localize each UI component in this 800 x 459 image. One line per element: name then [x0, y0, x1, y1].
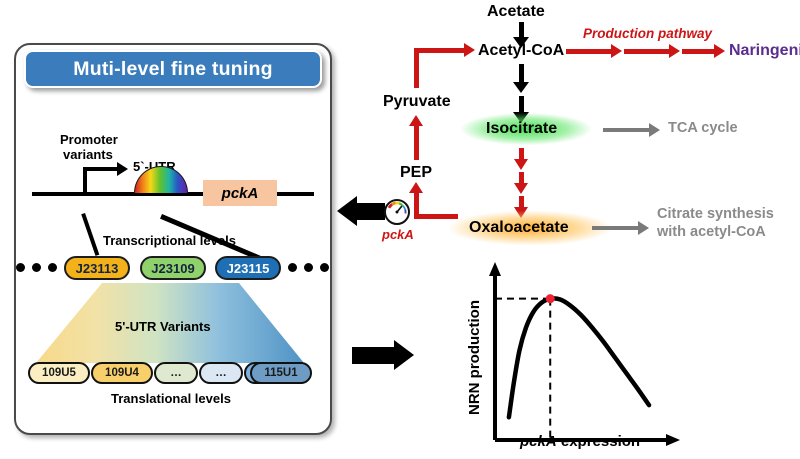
- chart-y-axis-label: NRN production: [466, 300, 483, 415]
- right-arrow-head-icon: [394, 340, 414, 370]
- arrow-oaa-to-pep-head-icon: [409, 182, 423, 193]
- arrow-pyr-to-accoa-vertical: [414, 48, 419, 88]
- ellipsis-dot-right-1: [288, 263, 297, 272]
- chart-x-axis-label-rest: expression: [557, 433, 640, 450]
- arrow-citrate-head-icon: [638, 221, 649, 235]
- utr-variant-label: 109U5: [42, 367, 76, 379]
- promoter-arrow-stem: [83, 167, 87, 194]
- ellipsis-dot-right-3: [320, 263, 329, 272]
- arrow-pep-to-pyr-shaft: [414, 125, 419, 160]
- production-arrow-seg3-head-icon: [714, 44, 725, 58]
- arrow-citrate-shaft: [592, 226, 638, 230]
- ellipsis-dot-left-2: [32, 263, 41, 272]
- production-arrow-seg2-head-icon: [669, 44, 680, 58]
- node-acetate: Acetate: [487, 3, 545, 21]
- promoter-variants-label-line2: variants: [63, 147, 113, 162]
- promoter-arrow-head-icon: [117, 162, 128, 176]
- tca-cycle-label: TCA cycle: [668, 120, 738, 136]
- node-isocitrate: Isocitrate: [486, 120, 557, 138]
- node-pyruvate: Pyruvate: [383, 93, 451, 111]
- ellipsis-dot-left-3: [48, 263, 57, 272]
- arrow-tca-head-icon: [649, 123, 660, 137]
- arrow-iso-to-oaa-2-head-icon: [514, 183, 528, 194]
- ellipsis-dot-left-1: [16, 263, 25, 272]
- production-arrow-seg2: [624, 49, 669, 54]
- node-acetyl-coa: Acetyl-CoA: [478, 42, 564, 60]
- promoter-variant-label: J23109: [151, 261, 194, 276]
- node-pep: PEP: [400, 164, 432, 182]
- left-arrow-head-icon: [337, 196, 357, 226]
- panel-title: Muti-level fine tuning: [73, 58, 272, 81]
- utr-variant-label: …: [215, 367, 227, 379]
- pcka-gauge-label: pckA: [382, 227, 414, 242]
- panel-title-bar: Muti-level fine tuning: [24, 50, 322, 88]
- arrow-tca-shaft: [603, 128, 649, 132]
- promoter-variant-label: J23113: [76, 261, 119, 276]
- arrow-iso-to-oaa-1-head-icon: [514, 159, 528, 170]
- production-arrow-seg1: [566, 49, 611, 54]
- utr-variant-label: 115U1: [264, 367, 297, 379]
- arrow-pyr-to-accoa-head-icon: [464, 43, 475, 57]
- utr-variant-pill-115u1[interactable]: 115U1: [250, 362, 312, 384]
- arrow-pyr-to-accoa-horizontal: [414, 48, 464, 53]
- utr-variant-pill-ellipsis-1[interactable]: …: [154, 362, 198, 384]
- production-pathway-label: Production pathway: [583, 26, 712, 41]
- chart-x-axis-label: pckA expression: [520, 433, 640, 450]
- promoter-variant-pill-j23109[interactable]: J23109: [140, 256, 206, 280]
- node-oxaloacetate: Oxaloacetate: [469, 219, 569, 237]
- arrow-pep-to-pyr-head-icon: [409, 115, 423, 126]
- nrn-production-chart: [462, 258, 792, 456]
- utr-variant-pill-ellipsis-2[interactable]: …: [199, 362, 243, 384]
- production-arrow-seg3: [682, 49, 714, 54]
- citrate-synthesis-label-line2: with acetyl-CoA: [657, 224, 766, 240]
- utr-variants-label: 5'-UTR Variants: [115, 319, 211, 334]
- pcka-gene-label: pckA: [222, 185, 259, 202]
- promoter-variant-label: J23115: [227, 261, 270, 276]
- transcriptional-levels-label: Transcriptional levels: [103, 233, 236, 248]
- promoter-variant-pill-j23113[interactable]: J23113: [64, 256, 130, 280]
- utr-variant-pill-109u4[interactable]: 109U4: [91, 362, 153, 384]
- pcka-gauge-icon: [384, 199, 410, 225]
- arrow-acetylcoa-down-1-head-icon: [513, 82, 529, 93]
- promoter-variant-pill-j23115[interactable]: J23115: [215, 256, 281, 280]
- ellipsis-dot-right-2: [304, 263, 313, 272]
- left-arrow-shaft: [355, 203, 385, 220]
- optimum-point-marker: [546, 294, 555, 303]
- right-arrow-shaft: [352, 347, 394, 364]
- chart-x-axis-label-gene: pckA: [520, 433, 557, 450]
- figure-canvas: Muti-level fine tuning Promoter variants…: [0, 0, 800, 459]
- utr-variant-pill-109u5[interactable]: 109U5: [28, 362, 90, 384]
- promoter-arrow-arm: [83, 167, 117, 171]
- utr-variant-label: 109U4: [105, 367, 139, 379]
- translational-levels-label: Translational levels: [111, 391, 231, 406]
- citrate-synthesis-label-line1: Citrate synthesis: [657, 206, 774, 222]
- pcka-gene-box: pckA: [203, 180, 277, 206]
- promoter-variants-label-line1: Promoter: [60, 132, 118, 147]
- arrow-oaa-to-pep-horizontal: [414, 214, 458, 219]
- utr-variant-label: …: [170, 367, 182, 379]
- arrow-oaa-to-pep-vertical: [414, 192, 419, 219]
- production-arrow-seg1-head-icon: [611, 44, 622, 58]
- node-naringenin: Naringenin: [729, 42, 800, 60]
